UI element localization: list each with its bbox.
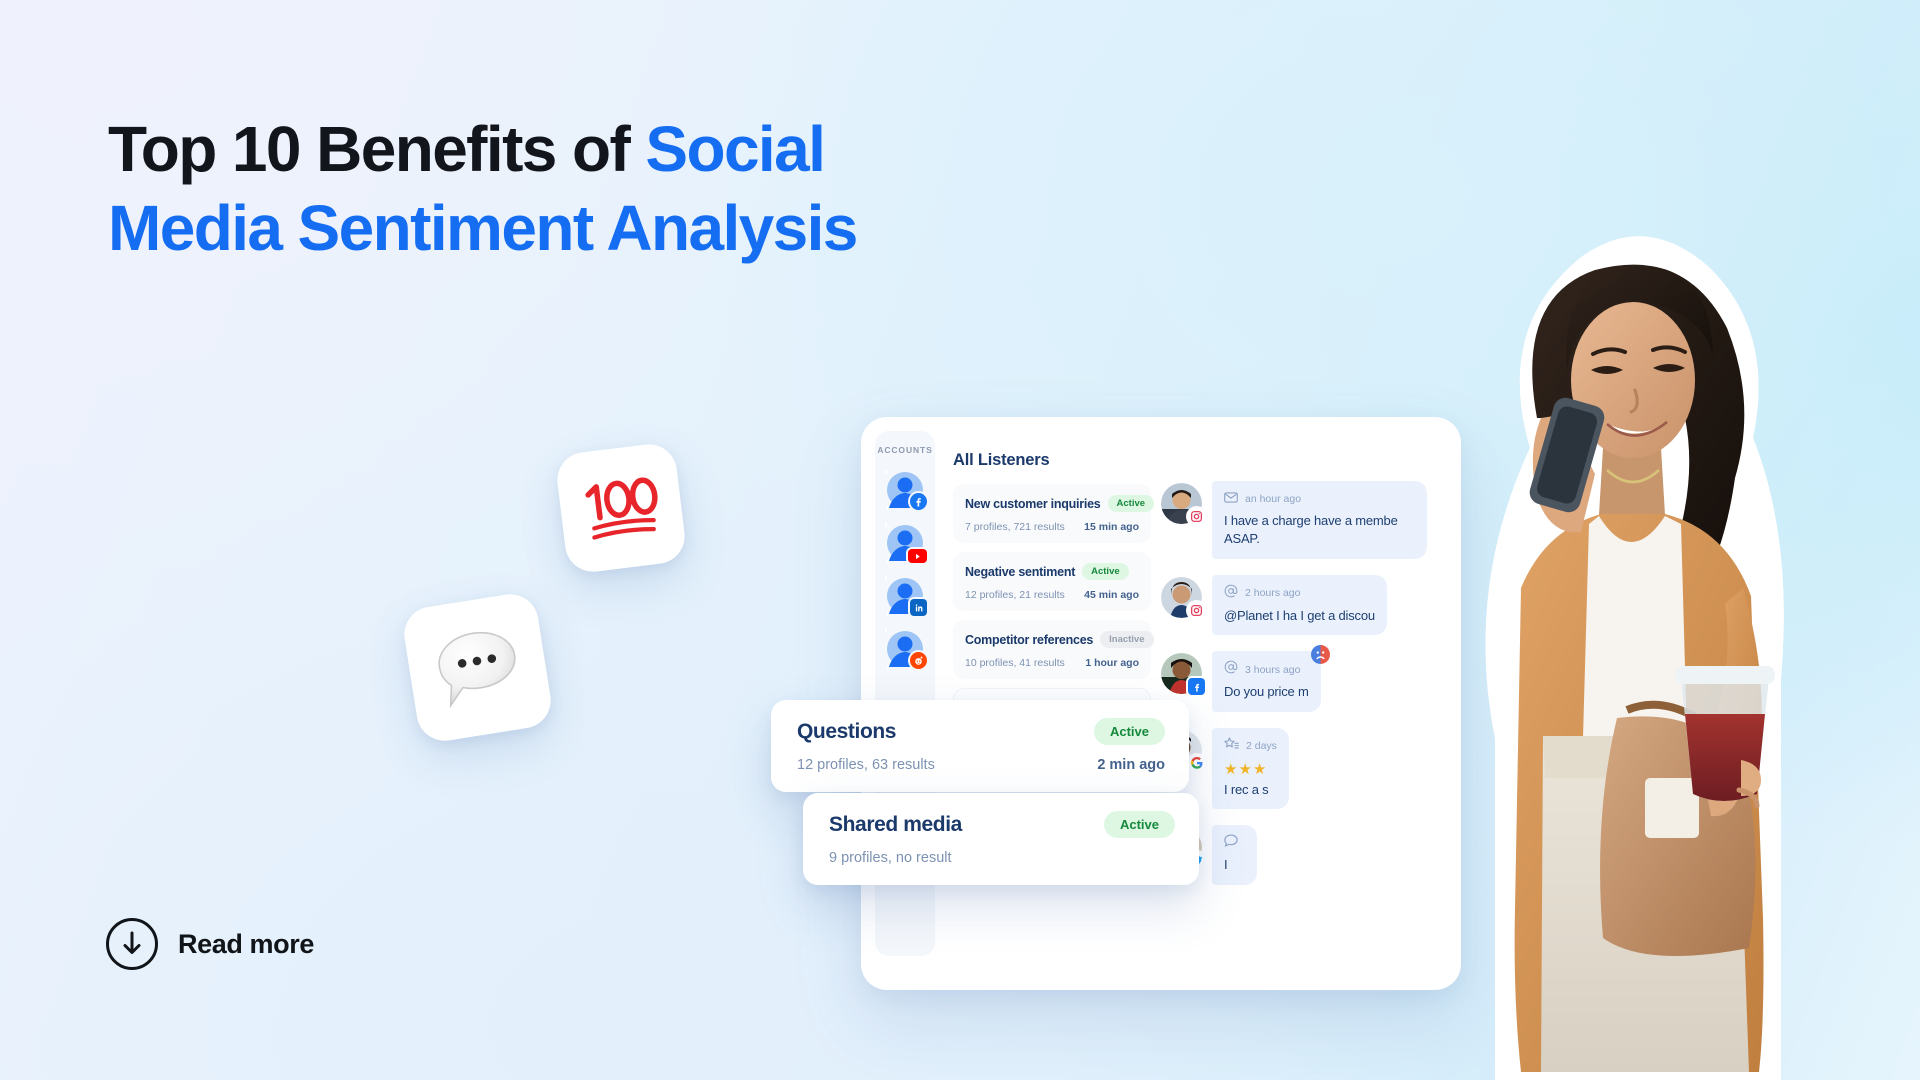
facebook-icon (910, 493, 927, 510)
listener-meta: 12 profiles, 21 results (965, 589, 1065, 601)
hundred-points-emoji-card (554, 441, 688, 575)
at-sign-icon (1224, 660, 1238, 679)
account-item-youtube[interactable] (887, 525, 923, 561)
rating-stars: ★★★ (1224, 760, 1277, 778)
speech-balloon-emoji-card (400, 590, 554, 744)
listener-row[interactable]: Negative sentiment Active 12 profiles, 2… (953, 552, 1151, 611)
headline-line2-accent: Media Sentiment Analysis (108, 192, 857, 264)
listener-time: 1 hour ago (1085, 657, 1139, 669)
listener-title: Negative sentiment (965, 565, 1075, 579)
arrow-down-circle-icon (106, 918, 158, 970)
status-badge: Inactive (1100, 631, 1153, 648)
listener-meta: 12 profiles, 63 results (797, 757, 935, 773)
mention-bubble: I (1212, 825, 1257, 884)
headline-line1-accent: Social (645, 113, 824, 185)
listener-title: Questions (797, 720, 896, 744)
listener-meta: 9 profiles, no result (829, 850, 952, 866)
headline-line1-plain: Top 10 Benefits of (108, 113, 645, 185)
star-review-icon (1224, 737, 1239, 756)
mention-time: 3 hours ago (1245, 664, 1300, 676)
instagram-icon (1188, 508, 1205, 525)
status-badge: Active (1108, 495, 1155, 512)
listener-time: 2 min ago (1097, 757, 1165, 773)
reddit-icon (910, 652, 927, 669)
avatar (1161, 483, 1202, 524)
mention-text: Do you price m (1224, 683, 1309, 701)
avatar (1161, 653, 1202, 694)
listener-time: 15 min ago (1084, 521, 1139, 533)
mention-text: I rec a s (1224, 781, 1277, 799)
accounts-sidebar-title: ACCOUNTS (877, 445, 932, 455)
listener-meta: 7 profiles, 721 results (965, 521, 1065, 533)
account-item-linkedin[interactable] (887, 578, 923, 614)
mention-time: 2 days (1246, 740, 1277, 752)
status-badge: Active (1094, 718, 1165, 745)
facebook-icon (1188, 678, 1205, 695)
listener-time: 45 min ago (1084, 589, 1139, 601)
mention-time: an hour ago (1245, 493, 1301, 505)
read-more-label: Read more (178, 929, 314, 960)
avatar (1161, 577, 1202, 618)
speech-balloon-emoji-icon (429, 621, 526, 713)
listener-row[interactable]: Competitor references Inactive 10 profil… (953, 620, 1151, 679)
read-more-button[interactable]: Read more (106, 918, 314, 970)
listener-meta: 10 profiles, 41 results (965, 657, 1065, 669)
listener-title: Shared media (829, 813, 962, 837)
listener-title: New customer inquiries (965, 497, 1101, 511)
mention-time: 2 hours ago (1245, 587, 1300, 599)
floating-listener-card-shared-media[interactable]: Shared media Active 9 profiles, no resul… (803, 793, 1199, 885)
comment-icon (1224, 834, 1238, 852)
woman-on-phone-photo (1345, 118, 1791, 1080)
status-badge: Active (1104, 811, 1175, 838)
envelope-icon (1224, 490, 1238, 508)
google-icon (1188, 755, 1205, 772)
sad-face-badge-icon (1311, 645, 1330, 664)
account-item-facebook[interactable] (887, 472, 923, 508)
youtube-icon (908, 549, 927, 563)
mention-bubble: 3 hours ago Do you price m (1212, 651, 1321, 711)
listeners-heading: All Listeners (953, 451, 1151, 470)
instagram-icon (1188, 602, 1205, 619)
status-badge: Active (1082, 563, 1129, 580)
listener-title: Competitor references (965, 633, 1093, 647)
linkedin-icon (910, 599, 927, 616)
account-item-reddit[interactable] (887, 631, 923, 667)
at-sign-icon (1224, 584, 1238, 603)
mention-text: I (1224, 856, 1245, 874)
page-title: Top 10 Benefits of Social Media Sentimen… (108, 110, 1188, 269)
listener-row[interactable]: New customer inquiries Active 7 profiles… (953, 484, 1151, 543)
floating-listener-card-questions[interactable]: Questions Active 12 profiles, 63 results… (771, 700, 1189, 792)
mention-bubble: 2 days ★★★ I rec a s (1212, 728, 1289, 809)
hundred-points-emoji-icon (578, 470, 663, 545)
poster-stage: Top 10 Benefits of Social Media Sentimen… (0, 0, 1920, 1080)
